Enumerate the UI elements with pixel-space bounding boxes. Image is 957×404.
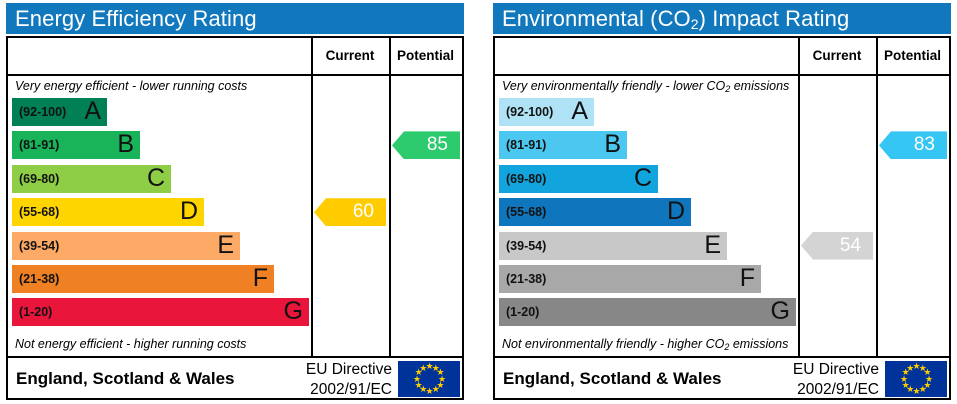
eu-star-icon: ★ (906, 365, 913, 372)
rating-band-a: (92-100)A (12, 98, 107, 126)
band-range-label: (55-68) (19, 198, 59, 226)
rating-table: CurrentPotentialVery energy efficient - … (6, 36, 464, 400)
potential-rating-arrow: 83 (879, 131, 947, 159)
rating-band-c: (69-80)C (12, 165, 171, 193)
efficiency-note-top: Very environmentally friendly - lower CO… (502, 76, 794, 96)
band-range-label: (69-80) (506, 165, 546, 193)
region-label: England, Scotland & Wales (503, 358, 722, 400)
band-range-label: (81-91) (506, 131, 546, 159)
column-divider (389, 38, 391, 358)
band-letter-label: C (634, 166, 652, 191)
band-letter-label: G (771, 299, 790, 324)
eu-directive-label: EU Directive2002/91/EC (286, 358, 392, 400)
band-range-label: (69-80) (19, 165, 59, 193)
rating-band-b: (81-91)B (499, 131, 627, 159)
current-rating-arrow: 54 (801, 232, 873, 260)
column-header-potential: Potential (876, 38, 949, 74)
band-range-label: (39-54) (19, 232, 59, 260)
epc-chart-energy-efficiency: Energy Efficiency RatingCurrentPotential… (0, 0, 470, 404)
efficiency-note-bottom: Not energy efficient - higher running co… (15, 334, 307, 354)
band-letter-label: E (217, 233, 234, 258)
rating-band-d: (55-68)D (12, 198, 204, 226)
band-letter-label: F (253, 266, 268, 291)
efficiency-note-top: Very energy efficient - lower running co… (15, 76, 307, 96)
rating-bands: (92-100)A(81-91)B(69-80)C(55-68)D(39-54)… (10, 98, 309, 332)
band-range-label: (92-100) (19, 98, 66, 126)
potential-rating-arrow: 85 (392, 131, 460, 159)
rating-band-g: (1-20)G (12, 298, 309, 326)
eu-star-icon: ★ (419, 365, 426, 372)
column-header-potential: Potential (389, 38, 462, 74)
column-divider (311, 38, 313, 358)
band-range-label: (39-54) (506, 232, 546, 260)
band-letter-label: A (571, 99, 588, 124)
rating-bands: (92-100)A(81-91)B(69-80)C(55-68)D(39-54)… (497, 98, 796, 332)
band-range-label: (21-38) (19, 265, 59, 293)
band-letter-label: E (704, 233, 721, 258)
chart-footer: England, Scotland & WalesEU Directive200… (8, 358, 462, 400)
efficiency-note-bottom: Not environmentally friendly - higher CO… (502, 334, 794, 354)
band-range-label: (92-100) (506, 98, 553, 126)
band-letter-label: C (147, 166, 165, 191)
eu-flag-icon: ★★★★★★★★★★★★ (885, 361, 947, 397)
band-letter-label: F (740, 266, 755, 291)
chart-footer: England, Scotland & WalesEU Directive200… (495, 358, 949, 400)
rating-band-e: (39-54)E (499, 232, 727, 260)
current-rating-arrow: 60 (314, 198, 386, 226)
rating-band-a: (92-100)A (499, 98, 594, 126)
band-letter-label: B (117, 132, 134, 157)
epc-chart-co2-impact: Environmental (CO2) Impact RatingCurrent… (487, 0, 957, 404)
region-label: England, Scotland & Wales (16, 358, 235, 400)
column-divider (876, 38, 878, 358)
rating-band-d: (55-68)D (499, 198, 691, 226)
band-range-label: (1-20) (19, 298, 52, 326)
band-range-label: (1-20) (506, 298, 539, 326)
band-letter-label: B (604, 132, 621, 157)
rating-band-f: (21-38)F (12, 265, 274, 293)
rating-band-g: (1-20)G (499, 298, 796, 326)
rating-table: CurrentPotentialVery environmentally fri… (493, 36, 951, 400)
rating-band-f: (21-38)F (499, 265, 761, 293)
epc-charts-container: Energy Efficiency RatingCurrentPotential… (0, 0, 957, 404)
band-letter-label: D (180, 199, 198, 224)
band-range-label: (81-91) (19, 131, 59, 159)
rating-band-c: (69-80)C (499, 165, 658, 193)
column-divider (798, 38, 800, 358)
column-header-current: Current (311, 38, 389, 74)
eu-flag-icon: ★★★★★★★★★★★★ (398, 361, 460, 397)
band-letter-label: A (84, 99, 101, 124)
rating-band-e: (39-54)E (12, 232, 240, 260)
band-range-label: (55-68) (506, 198, 546, 226)
band-letter-label: G (284, 299, 303, 324)
column-header-current: Current (798, 38, 876, 74)
chart-title: Environmental (CO2) Impact Rating (493, 3, 951, 34)
chart-title: Energy Efficiency Rating (6, 3, 464, 34)
band-range-label: (21-38) (506, 265, 546, 293)
eu-directive-label: EU Directive2002/91/EC (773, 358, 879, 400)
rating-band-b: (81-91)B (12, 131, 140, 159)
band-letter-label: D (667, 199, 685, 224)
